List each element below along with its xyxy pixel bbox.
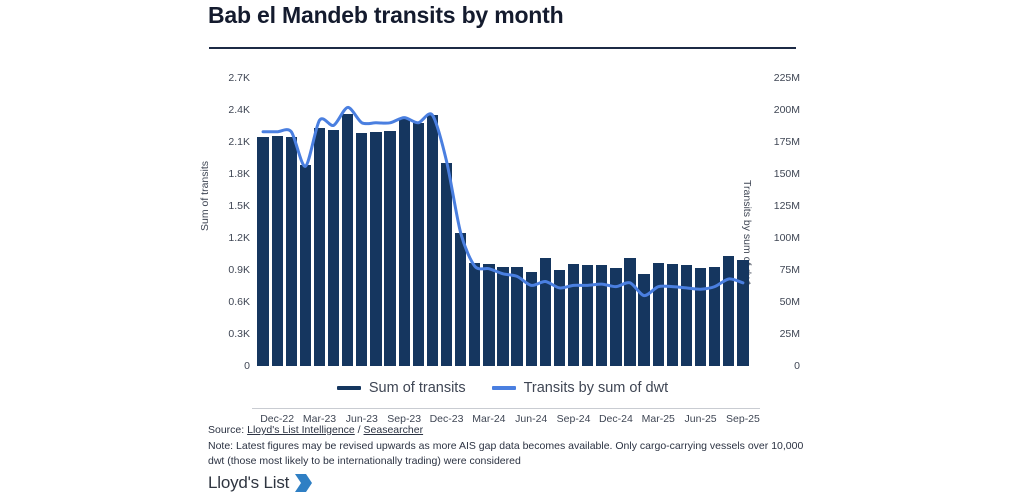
source-prefix: Source:	[208, 424, 247, 436]
legend-item-transits-by-dwt[interactable]: Transits by sum of dwt	[492, 380, 669, 396]
y-axis-left-tick-label: 2.1K	[208, 137, 250, 148]
legend-label-sum-of-transits: Sum of transits	[369, 380, 466, 396]
y-axis-right-tick-label: 200M	[758, 105, 800, 116]
page-title: Bab el Mandeb transits by month	[208, 2, 563, 29]
title-divider	[209, 47, 796, 49]
y-axis-left-tick-label: 0	[208, 361, 250, 372]
brand-name: Lloyd's List	[208, 473, 289, 493]
line-series-layer	[256, 78, 750, 366]
legend-label-transits-by-dwt: Transits by sum of dwt	[524, 380, 669, 396]
legend-swatch-line-icon	[492, 386, 516, 390]
chart-footnotes: Source: Lloyd's List Intelligence / Seas…	[208, 423, 808, 469]
y-axis-right-tick-label: 100M	[758, 233, 800, 244]
line-series-transits-by-dwt[interactable]	[263, 107, 743, 295]
y-axis-left-tick-label: 0.3K	[208, 329, 250, 340]
y-axis-right-tick-label: 25M	[758, 329, 800, 340]
y-axis-left-tick-label: 2.4K	[208, 105, 250, 116]
source-link-seasearcher[interactable]: Seasearcher	[364, 424, 424, 436]
chart-page: Bab el Mandeb transits by month 00.3K0.6…	[0, 0, 1017, 500]
note-line: Note: Latest figures may be revised upwa…	[208, 439, 808, 469]
y-axis-right-tick-label: 225M	[758, 73, 800, 84]
y-axis-right-tick-label: 0	[758, 361, 800, 372]
lloyds-list-chevron-icon	[292, 472, 314, 494]
y-axis-left-tick-label: 1.2K	[208, 233, 250, 244]
y-axis-left-tick-label: 2.7K	[208, 73, 250, 84]
y-axis-right-tick-label: 150M	[758, 169, 800, 180]
plot-area	[256, 78, 750, 366]
y-axis-right-tick-label: 125M	[758, 201, 800, 212]
chart-container: 00.3K0.6K0.9K1.2K1.5K1.8K2.1K2.4K2.7K 02…	[208, 60, 797, 360]
brand-logo: Lloyd's List	[208, 472, 314, 494]
source-separator: /	[355, 424, 364, 436]
y-axis-left-title: Sum of transits	[199, 161, 211, 231]
y-axis-left-tick-label: 1.8K	[208, 169, 250, 180]
y-axis-right-tick-label: 175M	[758, 137, 800, 148]
chart-legend: Sum of transits Transits by sum of dwt	[208, 380, 797, 396]
legend-item-sum-of-transits[interactable]: Sum of transits	[337, 380, 466, 396]
legend-swatch-bar-icon	[337, 386, 361, 390]
y-axis-right-tick-label: 50M	[758, 297, 800, 308]
source-line: Source: Lloyd's List Intelligence / Seas…	[208, 423, 808, 438]
y-axis-left-tick-label: 1.5K	[208, 201, 250, 212]
source-link-lloyds-list-intelligence[interactable]: Lloyd's List Intelligence	[247, 424, 355, 436]
y-axis-left-tick-label: 0.9K	[208, 265, 250, 276]
x-axis-line	[252, 408, 760, 409]
y-axis-left-tick-label: 0.6K	[208, 297, 250, 308]
y-axis-right-tick-label: 75M	[758, 265, 800, 276]
